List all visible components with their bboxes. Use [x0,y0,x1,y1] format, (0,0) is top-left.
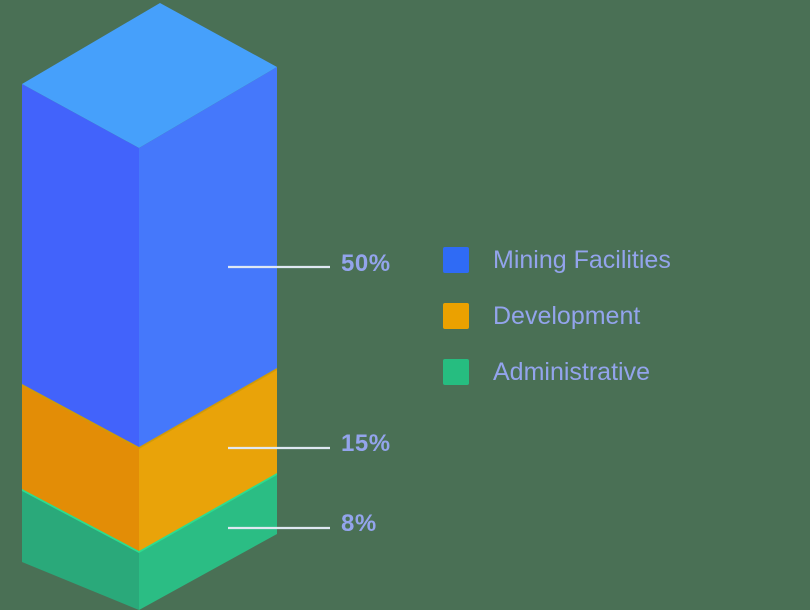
legend-swatch-icon-mining-facilities [443,247,469,273]
legend-label-administrative: Administrative [493,358,650,387]
legend-swatch-icon-development [443,303,469,329]
chart-root: 50% 15% 8% Mining Facilities Development… [0,0,810,610]
bar-segment-mining-left-face [22,84,139,447]
value-label-administrative: 8% [341,510,377,538]
legend-item-development[interactable]: Development [443,288,773,344]
value-label-mining: 50% [341,250,391,278]
legend-item-administrative[interactable]: Administrative [443,344,773,400]
legend-swatch-icon-administrative [443,359,469,385]
legend-label-development: Development [493,302,640,331]
chart-legend: Mining Facilities Development Administra… [443,232,773,400]
legend-item-mining-facilities[interactable]: Mining Facilities [443,232,773,288]
value-label-development: 15% [341,430,391,458]
legend-label-mining-facilities: Mining Facilities [493,246,671,275]
